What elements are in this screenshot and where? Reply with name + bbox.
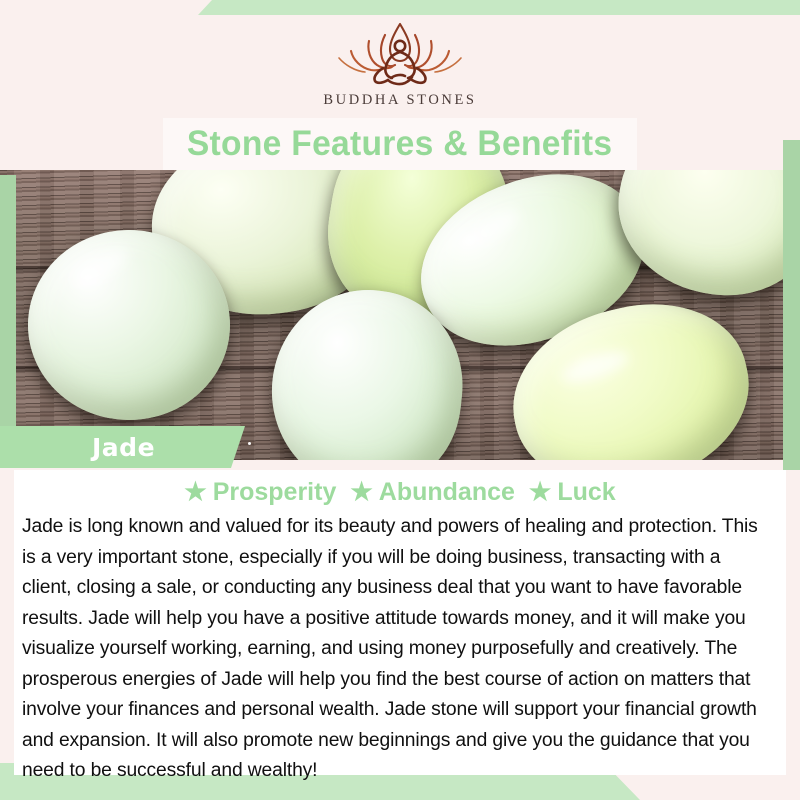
left-green-accent-bar: [0, 175, 16, 465]
benefit-item: ★ Abundance: [350, 478, 515, 507]
stone-info-card: BUDDHA STONES Stone Features & Benefits …: [0, 0, 800, 800]
star-icon: ★: [184, 480, 206, 505]
benefits-row: ★ Prosperity ★ Abundance ★ Luck: [14, 475, 786, 509]
right-green-accent-bar: [783, 140, 800, 470]
stone-name: Jade: [92, 433, 155, 462]
top-green-accent-strip: [0, 0, 800, 15]
star-icon: ★: [350, 480, 372, 505]
lotus-meditation-icon: [325, 18, 475, 90]
stone-description: Jade is long known and valued for its be…: [22, 511, 769, 786]
benefit-label: Luck: [557, 478, 615, 507]
benefit-item: ★ Prosperity: [184, 478, 336, 507]
page-title: Stone Features & Benefits: [187, 124, 612, 164]
star-icon: ★: [529, 480, 551, 505]
benefit-label: Abundance: [379, 478, 515, 507]
content-panel: ★ Prosperity ★ Abundance ★ Luck Jade is …: [14, 470, 786, 775]
stone-photo: [0, 170, 800, 460]
brand-name: BUDDHA STONES: [323, 92, 476, 109]
benefit-label: Prosperity: [213, 478, 337, 507]
jade-stone: [28, 230, 230, 420]
stone-name-banner: Jade: [0, 426, 245, 468]
brand-logo-block: BUDDHA STONES: [0, 18, 800, 116]
stone-sparkle: [248, 442, 251, 445]
title-banner: Stone Features & Benefits: [163, 118, 637, 170]
benefit-item: ★ Luck: [529, 478, 616, 507]
